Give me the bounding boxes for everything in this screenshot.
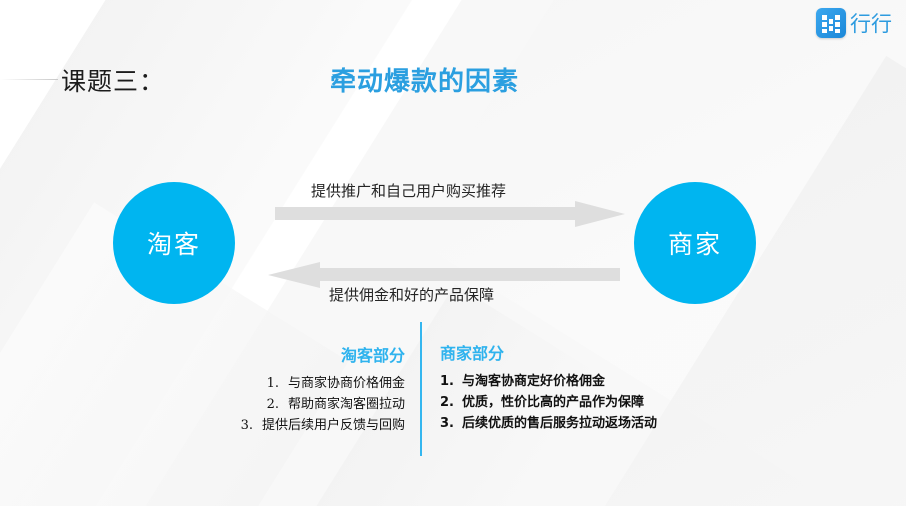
diagram-node-left[interactable]: 淘客 <box>113 182 235 304</box>
brand-logo-text: 行行 <box>850 8 892 38</box>
diagram-node-right[interactable]: 商家 <box>634 182 756 304</box>
list-item: 2.帮助商家淘客圈拉动 <box>170 394 405 415</box>
list-item-text: 后续优质的售后服务拉动返场活动 <box>462 416 657 431</box>
list-item-number: 1. <box>267 376 279 391</box>
page-title-prefix: 课题三： <box>61 62 165 98</box>
list-item-number: 3. <box>440 413 462 434</box>
list-item: 2.优质，性价比高的产品作为保障 <box>440 392 740 413</box>
arrow-bottom-label: 提供佣金和好的产品保障 <box>329 284 494 305</box>
page-title: 牵动爆款的因素 <box>330 61 519 98</box>
list-section-left: 淘客部分 1.与商家协商价格佣金 2.帮助商家淘客圈拉动 3.提供后续用户反馈与… <box>170 346 405 436</box>
list-item-text: 帮助商家淘客圈拉动 <box>288 397 405 412</box>
list-item-number: 2. <box>440 392 462 413</box>
list-item: 1.与淘客协商定好价格佣金 <box>440 371 740 392</box>
list-item-number: 2. <box>267 397 279 412</box>
list-item: 3.后续优质的售后服务拉动返场活动 <box>440 413 740 434</box>
list-item-number: 3. <box>241 418 253 433</box>
list-item-text: 提供后续用户反馈与回购 <box>262 418 405 433</box>
list-item-text: 与淘客协商定好价格佣金 <box>462 374 605 389</box>
list-item-text: 优质，性价比高的产品作为保障 <box>462 395 644 410</box>
brand-logo: 行行 <box>816 8 892 38</box>
list-item-text: 与商家协商价格佣金 <box>288 376 405 391</box>
title-rule <box>0 79 58 80</box>
list-item: 1.与商家协商价格佣金 <box>170 373 405 394</box>
list-right-title: 商家部分 <box>440 344 740 365</box>
list-item-number: 1. <box>440 371 462 392</box>
grid-blocks-logo-icon <box>816 8 846 38</box>
list-section-right: 商家部分 1.与淘客协商定好价格佣金 2.优质，性价比高的产品作为保障 3.后续… <box>440 344 740 434</box>
list-left-title: 淘客部分 <box>170 346 405 367</box>
diagram-node-right-label: 商家 <box>668 225 722 261</box>
list-item: 3.提供后续用户反馈与回购 <box>170 415 405 436</box>
diagram-node-left-label: 淘客 <box>147 225 201 261</box>
slide-canvas: 行行 课题三： 牵动爆款的因素 淘客 商家 提供推广和自己用户购买推荐 提供佣金… <box>0 0 906 506</box>
arrow-right-icon <box>275 201 625 227</box>
list-left-items: 1.与商家协商价格佣金 2.帮助商家淘客圈拉动 3.提供后续用户反馈与回购 <box>170 373 405 436</box>
arrow-top-label: 提供推广和自己用户购买推荐 <box>311 180 506 201</box>
vertical-divider <box>420 322 422 456</box>
list-right-items: 1.与淘客协商定好价格佣金 2.优质，性价比高的产品作为保障 3.后续优质的售后… <box>440 371 740 434</box>
